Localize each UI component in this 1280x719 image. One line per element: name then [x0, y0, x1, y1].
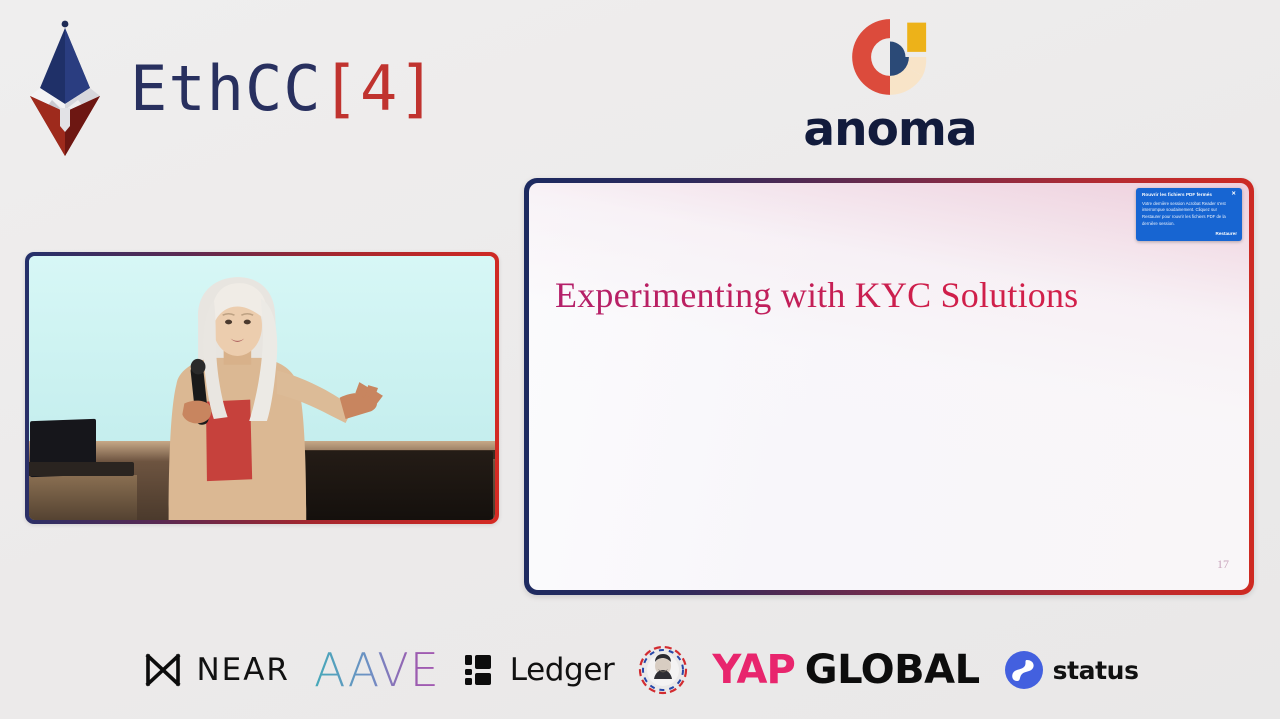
- slide-title: Experimenting with KYC Solutions: [555, 276, 1078, 316]
- ethcc-bracket-close: ]: [398, 58, 436, 120]
- sponsor-avatar[interactable]: [638, 645, 688, 695]
- sponsor-yap-global[interactable]: YAP GLOBAL: [712, 650, 979, 690]
- sponsor-aave[interactable]: AAVE: [314, 647, 440, 693]
- sponsor-ledger[interactable]: Ledger: [464, 652, 615, 688]
- ethcc-wordmark: EthCC [ 4 ]: [130, 58, 437, 120]
- speaker-video-feed[interactable]: [25, 252, 499, 524]
- sponsor-yap-label: YAP: [712, 650, 794, 690]
- ethcc-logo: EthCC [ 4 ]: [22, 16, 437, 158]
- sponsor-near[interactable]: NEAR: [141, 648, 290, 692]
- ledger-blocks-icon: [464, 652, 500, 688]
- ethcc-name: EthCC: [130, 58, 322, 120]
- ethcc-edition-number: 4: [360, 58, 398, 120]
- circular-avatar-icon: [638, 645, 688, 695]
- sponsor-status-label: status: [1053, 658, 1139, 683]
- speaker-video-inner: [29, 256, 495, 520]
- ethcc-diamond-icon: [22, 16, 108, 158]
- close-icon[interactable]: ✕: [1230, 192, 1237, 198]
- sponsor-status[interactable]: status: [1004, 650, 1139, 690]
- sponsor-global-label: GLOBAL: [805, 650, 980, 690]
- slide-content: Experimenting with KYC Solutions 17 Rouv…: [529, 183, 1249, 590]
- presentation-slide[interactable]: Experimenting with KYC Solutions 17 Rouv…: [524, 178, 1254, 595]
- notification-header: Rouvrir les fichiers PDF fermés ✕: [1142, 192, 1237, 198]
- sponsor-strip: NEAR AAVE Ledger: [0, 639, 1280, 701]
- notification-body: Votre dernière session Acrobat Reader s'…: [1142, 201, 1237, 228]
- speaker-figure: [29, 256, 495, 520]
- sponsor-aave-label: AAVE: [314, 647, 440, 693]
- restore-button[interactable]: Restaurer: [1142, 231, 1237, 236]
- notification-title: Rouvrir les fichiers PDF fermés: [1142, 192, 1226, 198]
- near-n-icon: [141, 648, 185, 692]
- slide-page-number: 17: [1217, 557, 1229, 572]
- acrobat-restore-notification[interactable]: Rouvrir les fichiers PDF fermés ✕ Votre …: [1136, 188, 1242, 241]
- anoma-circle-icon: [847, 14, 933, 100]
- sponsor-ledger-label: Ledger: [510, 655, 615, 686]
- sponsor-near-label: NEAR: [196, 655, 290, 686]
- anoma-wordmark: anoma: [803, 106, 976, 153]
- status-chat-icon: [1004, 650, 1044, 690]
- presentation-stage: EthCC [ 4 ] anoma: [0, 0, 1280, 719]
- ethcc-bracket-open: [: [322, 58, 360, 120]
- anoma-logo: anoma: [800, 14, 980, 153]
